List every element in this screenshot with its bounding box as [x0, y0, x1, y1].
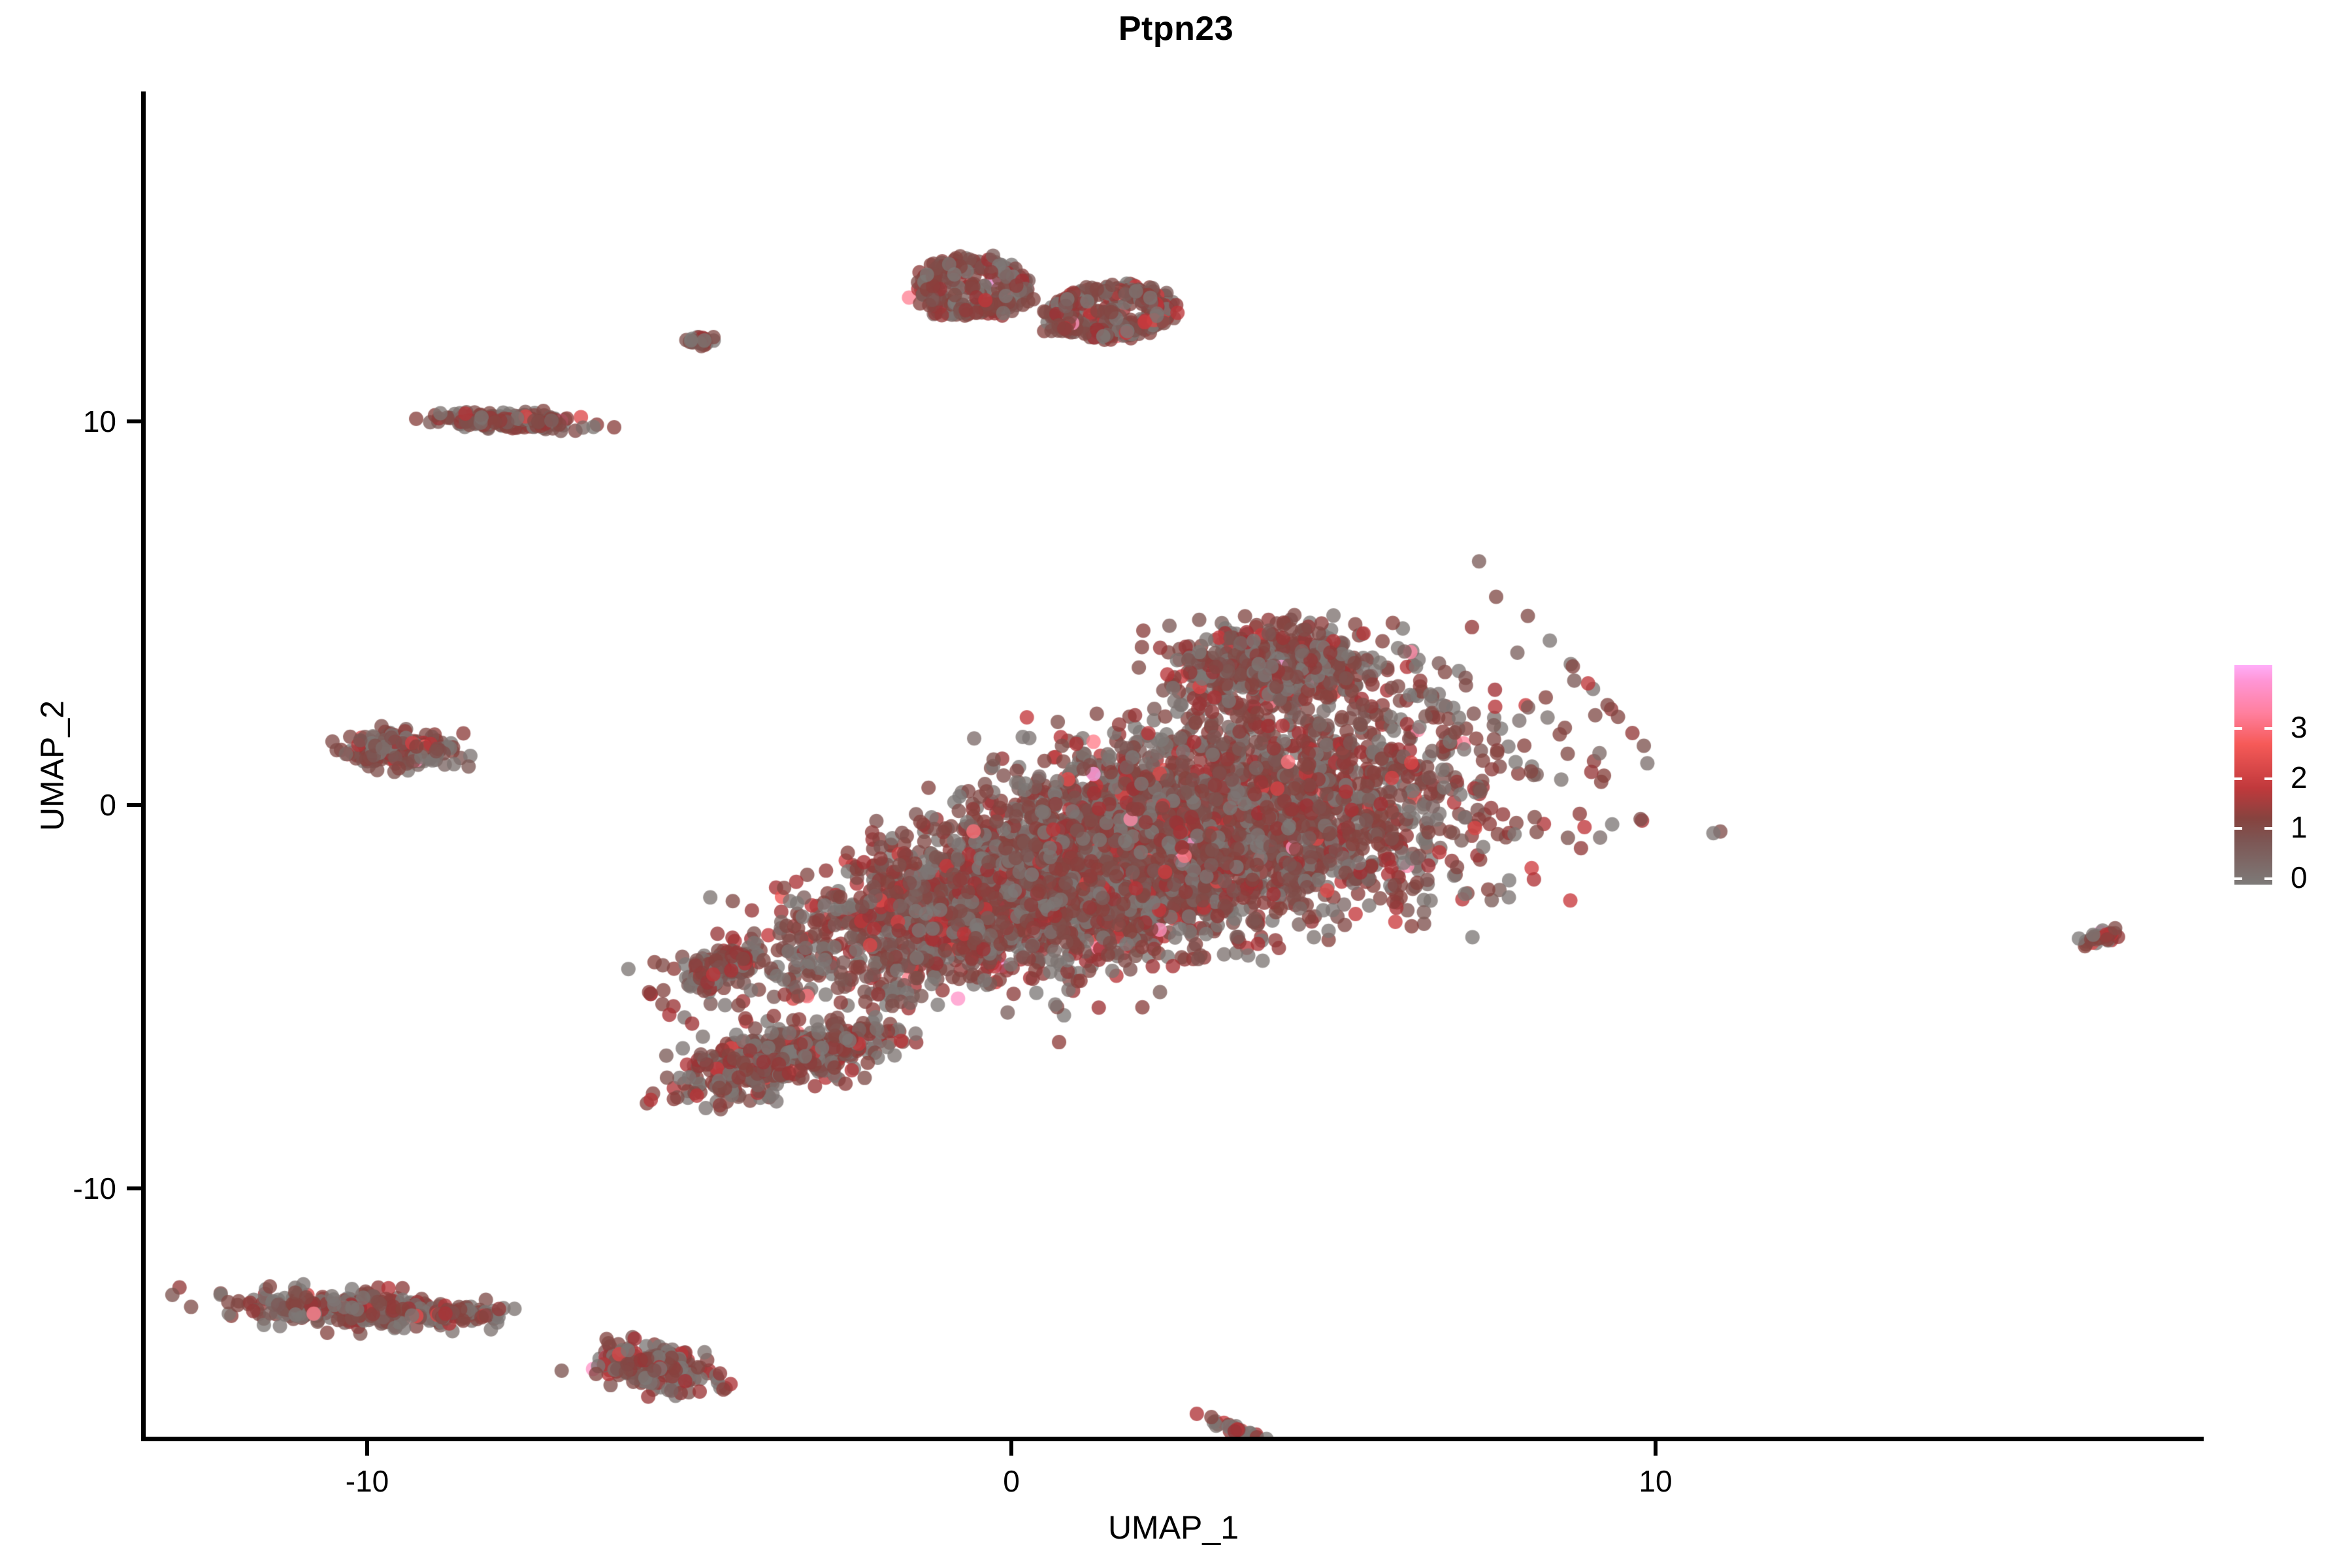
plot-panel: [144, 91, 2203, 1440]
x-axis-title: UMAP_1: [144, 1508, 2203, 1547]
x-tick-label-1: 0: [946, 1462, 1077, 1500]
x-tick-mark-0: [365, 1441, 369, 1456]
x-tick-label-2: 10: [1590, 1462, 1721, 1500]
legend-tick-2-right: [2264, 777, 2272, 780]
x-tick-label-0: -10: [302, 1462, 433, 1500]
umap-feature-plot: Ptpn23 -10 0 10 10 0 -10 UMAP_1 UMAP_2 3…: [0, 0, 2352, 1568]
x-axis-line: [141, 1437, 2204, 1441]
y-tick-mark-2: [127, 1186, 141, 1190]
legend-label-0: 0: [2291, 862, 2308, 892]
scatter-canvas: [144, 91, 2203, 1440]
legend-tick-1-right: [2264, 827, 2272, 830]
page-title: Ptpn23: [0, 9, 2352, 48]
legend-tick-0-right: [2264, 877, 2272, 880]
legend-tick-0-left: [2234, 877, 2242, 880]
legend-gradient-bar: [2234, 665, 2272, 885]
legend-label-2: 2: [2291, 762, 2308, 792]
x-tick-mark-1: [1009, 1441, 1013, 1456]
legend-tick-1-left: [2234, 827, 2242, 830]
y-axis-title: UMAP_2: [33, 308, 72, 1223]
y-axis-line: [141, 91, 146, 1441]
legend-label-3: 3: [2291, 712, 2308, 742]
legend-colorbar: 3 2 1 0: [2234, 665, 2339, 900]
y-tick-mark-0: [127, 419, 141, 423]
y-tick-mark-1: [127, 803, 141, 807]
legend-tick-3-right: [2264, 727, 2272, 730]
legend-label-1: 1: [2291, 812, 2308, 842]
legend-tick-2-left: [2234, 777, 2242, 780]
x-tick-mark-2: [1654, 1441, 1658, 1456]
legend-tick-3-left: [2234, 727, 2242, 730]
